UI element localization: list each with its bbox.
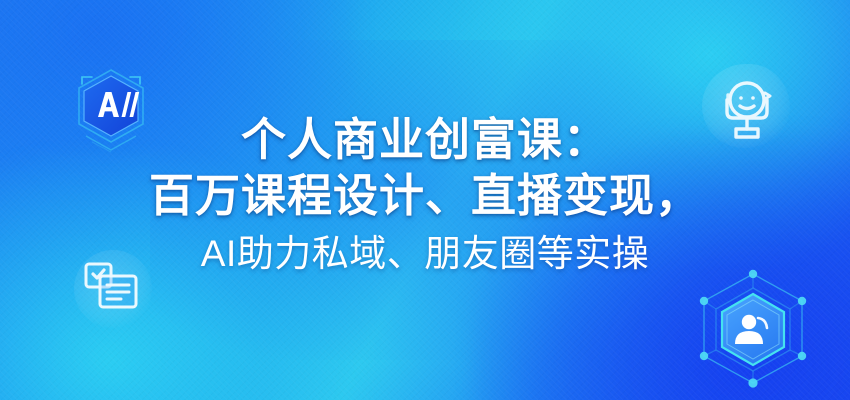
headline-block: 个人商业创富课： 百万课程设计、直播变现， AI助力私域、朋友圈等实操 — [0, 112, 850, 281]
course-promo-banner: 个人商业创富课： 百万课程设计、直播变现， AI助力私域、朋友圈等实操 — [0, 0, 850, 400]
headline-line-3: AI助力私域、朋友圈等实操 — [0, 227, 850, 281]
headline-line-2: 百万课程设计、直播变现， — [0, 168, 850, 224]
hexagon-network-user-icon — [688, 268, 818, 400]
headline-line-1: 个人商业创富课： — [0, 112, 850, 168]
